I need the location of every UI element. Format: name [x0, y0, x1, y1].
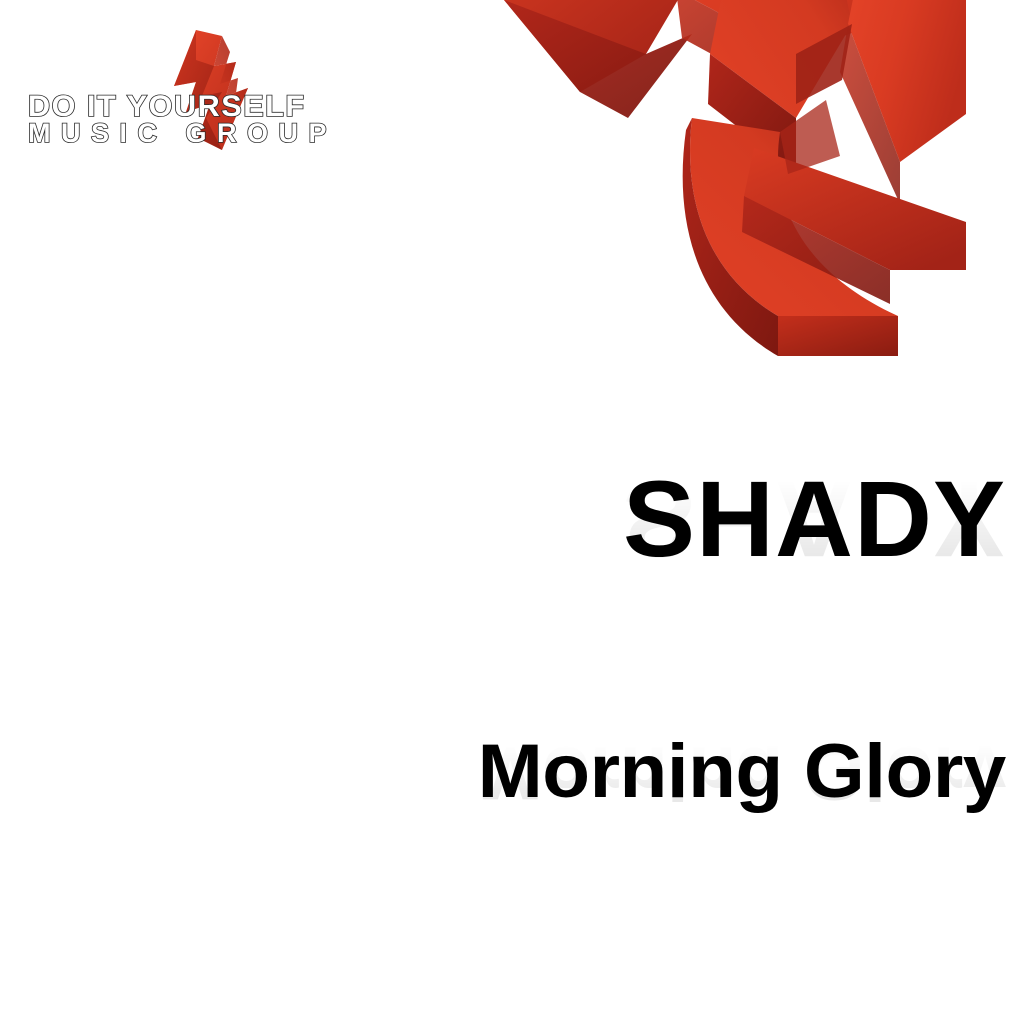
track-title-group: Morning Glory Morning Glory — [493, 735, 1006, 884]
label-logo: DO IT YOURSELF MUSIC GROUP — [22, 26, 412, 154]
track-title-reflection: Morning Glory — [478, 735, 1006, 809]
artist-title-group: SHADY SHADY — [623, 466, 1006, 678]
album-cover: DO IT YOURSELF MUSIC GROUP SHADY SHADY M… — [0, 0, 1024, 1024]
logo-line-music-group: MUSIC GROUP — [28, 118, 337, 149]
artist-name-reflection: SHADY — [623, 466, 1006, 572]
logo-text: DO IT YOURSELF MUSIC GROUP — [22, 26, 412, 154]
